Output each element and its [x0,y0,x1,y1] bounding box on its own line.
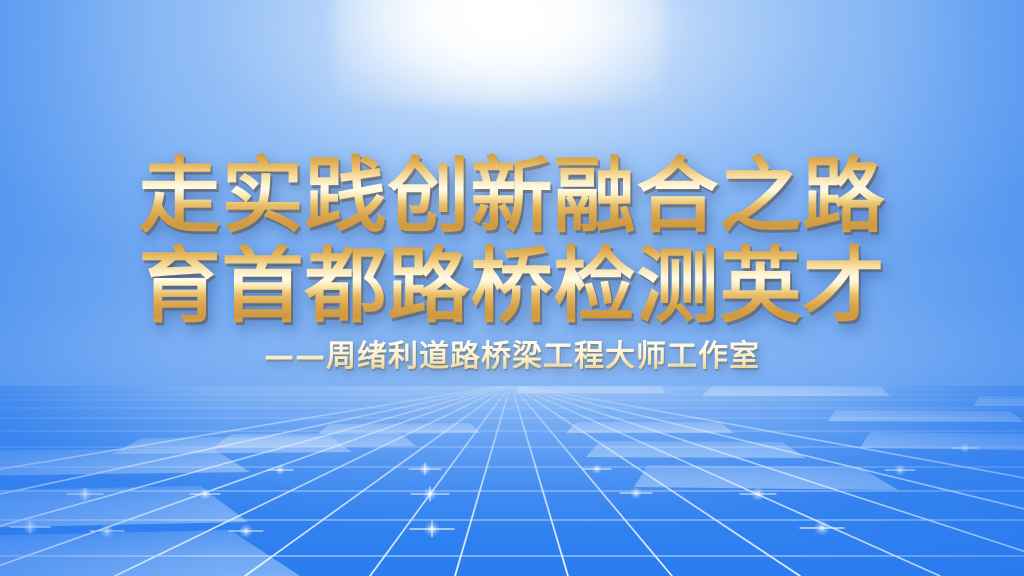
grid-highlight-cells [0,386,1024,576]
perspective-grid-floor [0,386,1024,576]
title-line-2: 育首都路桥检测英才 [0,240,1024,334]
title-line-1: 走实践创新融合之路 [0,150,1024,244]
glow-core-icon [334,0,664,105]
grid-floor-svg [0,386,1024,576]
title-block: 走实践创新融合之路 育首都路桥检测英才 ——周绪利道路桥梁工程大师工作室 [0,150,1024,376]
subtitle: ——周绪利道路桥梁工程大师工作室 [0,338,1024,376]
title-card-stage: 走实践创新融合之路 育首都路桥检测英才 ——周绪利道路桥梁工程大师工作室 [0,0,1024,576]
